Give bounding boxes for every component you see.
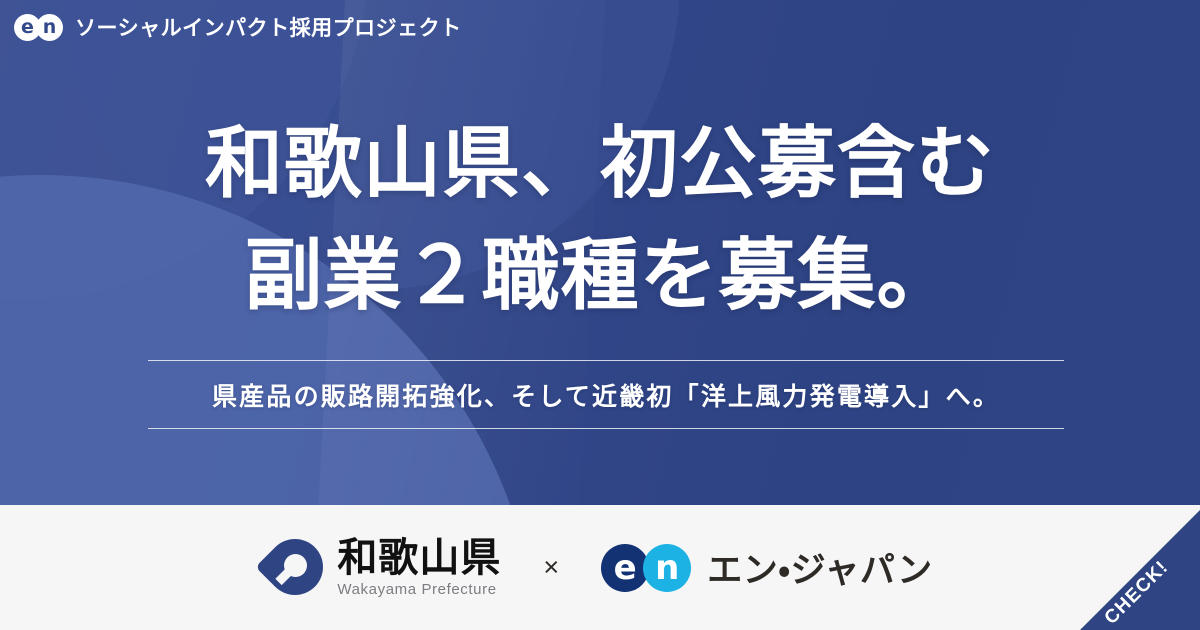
subheadline-block: 県産品の販路開拓強化、そして近畿初「洋上風力発電導入」へ。	[148, 360, 1064, 429]
wakayama-pin-icon	[267, 539, 323, 597]
en-logo-letter-n-large: n	[643, 544, 691, 592]
headline-line-1: 和歌山県、初公募含む	[0, 108, 1200, 220]
headline-line-2: 副業２職種を募集。	[0, 220, 1200, 332]
project-label: ソーシャルインパクト採用プロジェクト	[75, 12, 462, 42]
en-logo-icon: e n	[14, 14, 66, 41]
en-japan-name-jp: エン・ジャパン	[707, 542, 932, 593]
divider-bottom	[148, 428, 1064, 429]
en-logo-letter-e-large: e	[601, 544, 649, 592]
ogp-card: e n ソーシャルインパクト採用プロジェクト 和歌山県、初公募含む 副業２職種を…	[0, 0, 1200, 630]
en-japan-logo: e n エン・ジャパン	[601, 542, 932, 593]
ribbon-triangle	[1080, 510, 1200, 630]
footer-logo-strip: 和歌山県 Wakayama Prefecture × e n エン・ジャパン	[0, 505, 1200, 630]
wakayama-name-jp: 和歌山県	[337, 538, 501, 578]
check-ribbon[interactable]: CHECK!	[1080, 510, 1200, 630]
headline-block: 和歌山県、初公募含む 副業２職種を募集。	[0, 108, 1200, 333]
en-logo-letter-n: n	[36, 14, 63, 41]
wakayama-logo: 和歌山県 Wakayama Prefecture	[267, 538, 501, 597]
logo-separator-icon: ×	[543, 554, 559, 581]
en-logo-icon-large: e n	[601, 544, 693, 592]
wakayama-name-en: Wakayama Prefecture	[337, 582, 501, 597]
subheadline-text: 県産品の販路開拓強化、そして近畿初「洋上風力発電導入」へ。	[148, 361, 1064, 428]
wakayama-logo-text: 和歌山県 Wakayama Prefecture	[337, 538, 501, 597]
header-brand-bar: e n ソーシャルインパクト採用プロジェクト	[14, 12, 462, 42]
